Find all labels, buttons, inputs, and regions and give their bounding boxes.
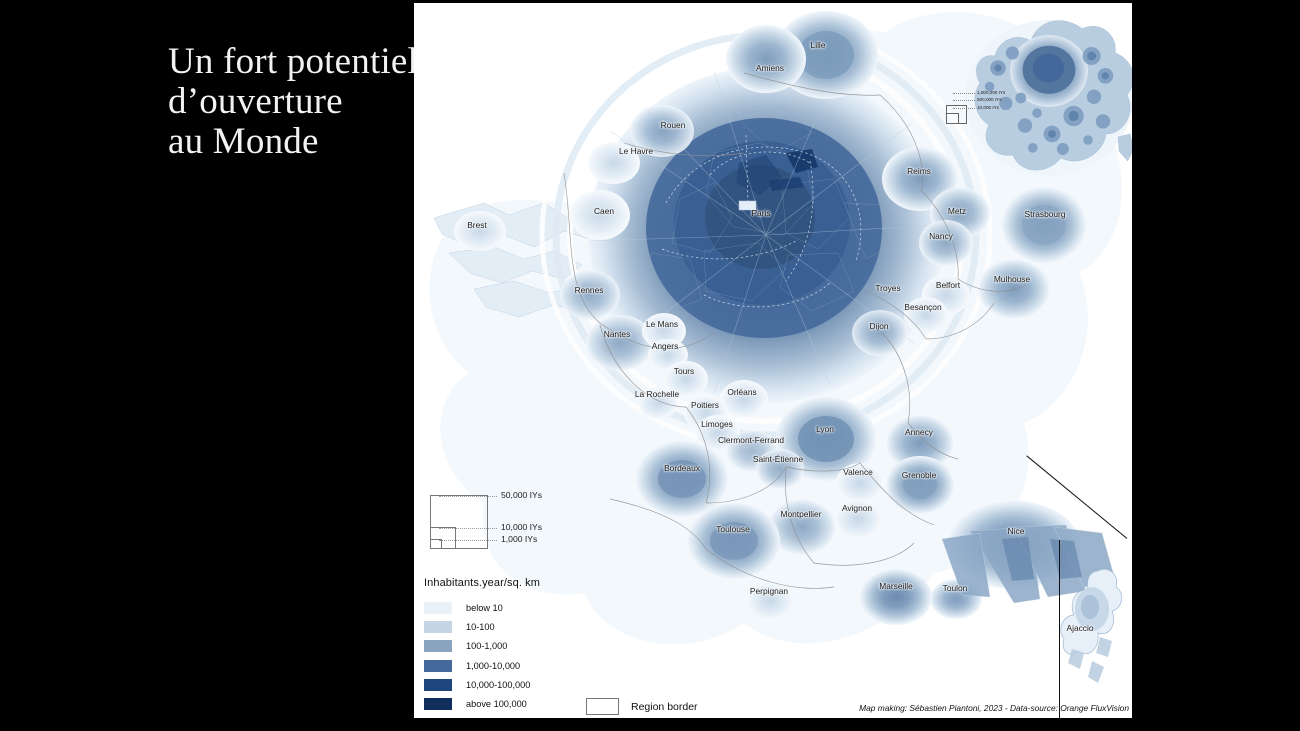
scale-label-1000: 1,000 IYs [501,534,537,544]
inset-scale-label-10000: 10,000 IYs [977,105,999,110]
map-legend: Inhabitants.year/sq. km below 1010-10010… [424,577,684,714]
legend-label: 10,000-100,000 [466,680,530,690]
legend-swatch [424,640,452,652]
corsica-inset-frame [1059,540,1132,718]
inset-scale-label-500000: 500,000 IYs [977,97,1002,102]
legend-swatch [424,698,452,710]
page-title-line-3: au Monde [168,122,408,162]
scale-bar: 50,000 IYs 10,000 IYs 1,000 IYs [427,487,607,557]
map-credits: Map making: Sébastien Piantoni, 2023 - D… [859,703,1129,713]
legend-row: below 10 [424,598,684,617]
legend-label: below 10 [466,603,503,613]
region-border-label: Region border [631,701,698,713]
inset-scale-square-small [946,113,959,124]
page-title: Un fort potentiel d’ouverture au Monde [168,42,408,162]
legend-label: 100-1,000 [466,641,507,651]
slide-root: Un fort potentiel d’ouverture au Monde [0,0,1300,731]
inset-scale-label-1000000: 1,000,000 IYs [977,90,1005,95]
region-border-key: Region border [586,698,698,715]
page-title-line-1: Un fort potentiel [168,42,408,82]
legend-swatch [424,621,452,633]
inset-scale-bar: 1,000,000 IYs 500,000 IYs 10,000 IYs [944,91,1064,131]
legend-row: 100-1,000 [424,637,684,656]
page-title-line-2: d’ouverture [168,82,408,122]
legend-row: 1,000-10,000 [424,656,684,675]
legend-row: 10,000-100,000 [424,675,684,694]
legend-row: 10-100 [424,617,684,636]
legend-label: 1,000-10,000 [466,661,520,671]
legend-swatch [424,660,452,672]
region-border-swatch [586,698,619,715]
scale-label-10000: 10,000 IYs [501,522,542,532]
legend-swatch [424,679,452,691]
legend-label: 10-100 [466,622,495,632]
map-panel[interactable]: LilleAmiensRouenLe HavreCaenBrestParisRe… [414,3,1132,718]
legend-class-list: below 1010-100100-1,0001,000-10,00010,00… [424,598,684,714]
legend-title: Inhabitants.year/sq. km [424,577,684,589]
legend-swatch [424,602,452,614]
scale-label-50000: 50,000 IYs [501,490,542,500]
legend-label: above 100,000 [466,699,527,709]
